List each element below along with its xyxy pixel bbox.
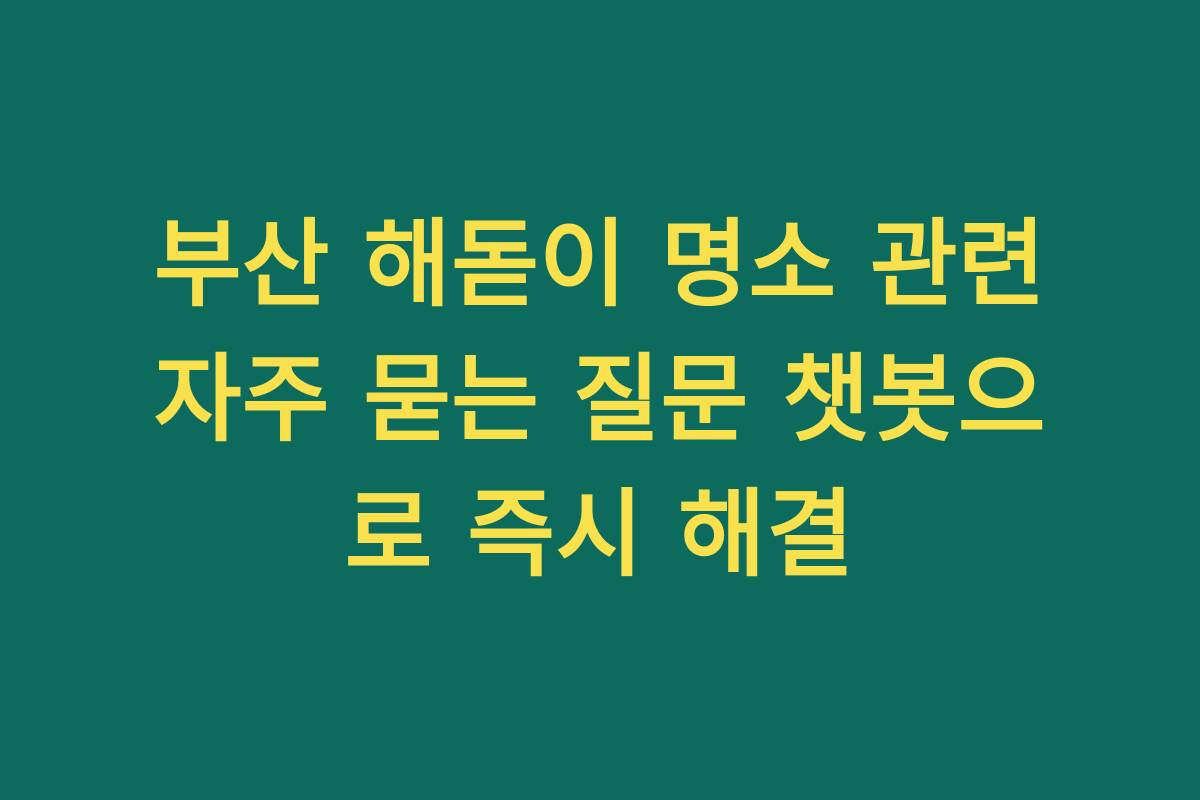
headline-line-2: 자주 묻는 질문 챗봇으 [100,333,1100,468]
headline-line-3: 로 즉시 해결 [100,468,1100,603]
thumbnail-card: 부산 해돋이 명소 관련 자주 묻는 질문 챗봇으 로 즉시 해결 [0,0,1200,800]
headline-line-1: 부산 해돋이 명소 관련 [100,198,1100,333]
headline: 부산 해돋이 명소 관련 자주 묻는 질문 챗봇으 로 즉시 해결 [100,198,1100,603]
